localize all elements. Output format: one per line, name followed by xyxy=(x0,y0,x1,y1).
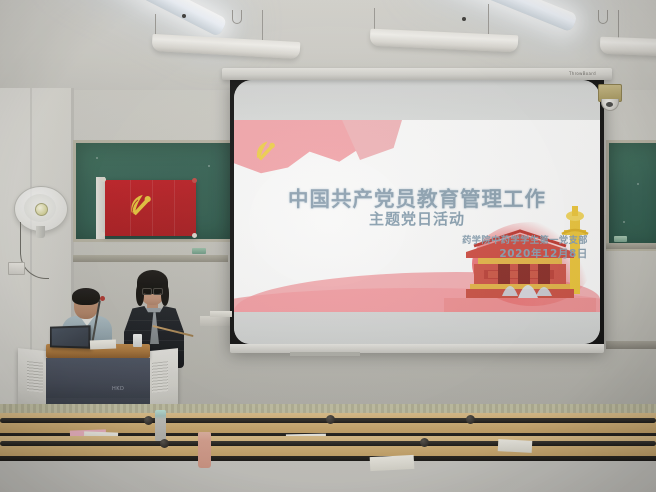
rail-knob xyxy=(466,415,475,424)
slide-date: 2020年12月8日 xyxy=(499,246,588,261)
projection-surface: 中国共产党员教育管理工作 主题党日活动 药学院中药学学生第一党支部 2020年1… xyxy=(234,80,600,344)
chalkboard-base-right xyxy=(606,341,656,349)
rail-knob xyxy=(144,416,153,425)
slide-letterbox-top xyxy=(234,80,600,120)
presentation-slide: 中国共产党员教育管理工作 主题党日活动 药学院中药学学生第一党支部 2020年1… xyxy=(234,120,600,312)
projector-screen-housing: ThrowBoard xyxy=(222,68,612,80)
light-suspension-rod xyxy=(618,10,619,38)
flag-hoist-band xyxy=(96,177,105,239)
chalkboard-right xyxy=(606,140,656,251)
chalk-ledge-left xyxy=(73,255,228,262)
flag-pin xyxy=(192,233,197,238)
seat-back-grille xyxy=(0,404,656,413)
suspended-light-panel xyxy=(600,37,656,57)
screen-hook xyxy=(598,10,608,24)
slide-organization: 药学院中药学学生第一党支部 xyxy=(462,232,588,246)
lecture-hall-photo: ThrowBoard xyxy=(0,0,656,492)
podium-water-cup xyxy=(133,334,142,347)
shelf-item-box xyxy=(210,311,232,317)
desk-edge-middle xyxy=(0,456,656,461)
microphone-head xyxy=(100,296,105,301)
communist-party-flag xyxy=(104,180,196,236)
flag-pin xyxy=(101,177,106,182)
fan-hub xyxy=(35,203,48,216)
podium-papers xyxy=(90,340,116,350)
slide-hammer-and-sickle-icon xyxy=(252,138,278,162)
pink-bottle xyxy=(198,432,211,468)
ceiling-sensor xyxy=(182,14,186,18)
operator-hair xyxy=(72,288,100,305)
screen-brand-label: ThrowBoard xyxy=(569,71,596,76)
wall-switch-plate[interactable] xyxy=(8,262,25,275)
light-suspension-rod xyxy=(262,10,263,42)
flag-pin xyxy=(192,178,197,183)
flag-pin xyxy=(100,232,105,237)
seat-rail-middle xyxy=(0,441,656,446)
screen-weight-bar xyxy=(290,352,360,356)
projector-screen: 中国共产党员教育管理工作 主题党日活动 药学院中药学学生第一党支部 2020年1… xyxy=(230,76,604,348)
ceiling-sensor xyxy=(462,17,466,21)
rail-knob xyxy=(160,439,169,448)
rail-knob xyxy=(420,438,429,447)
lectern-brand-label: HKD xyxy=(112,386,124,392)
slide-subtitle: 主题党日活动 xyxy=(234,208,600,229)
lectern-front-panel: HKD xyxy=(46,358,150,398)
light-suspension-rod xyxy=(488,4,489,34)
rail-knob xyxy=(326,415,335,424)
chalk-ledge-right xyxy=(606,243,656,249)
presenter-eyeglasses xyxy=(142,288,163,293)
screen-hook xyxy=(232,10,242,24)
screen-bottom-bar xyxy=(230,344,604,353)
thermos-bottle xyxy=(155,410,166,442)
white-papers xyxy=(498,439,533,453)
laptop[interactable] xyxy=(50,325,91,349)
slide-letterbox-bottom xyxy=(234,312,600,344)
chalkboard-eraser xyxy=(614,236,627,242)
notebook xyxy=(370,455,415,471)
chalkboard-eraser xyxy=(192,248,206,254)
